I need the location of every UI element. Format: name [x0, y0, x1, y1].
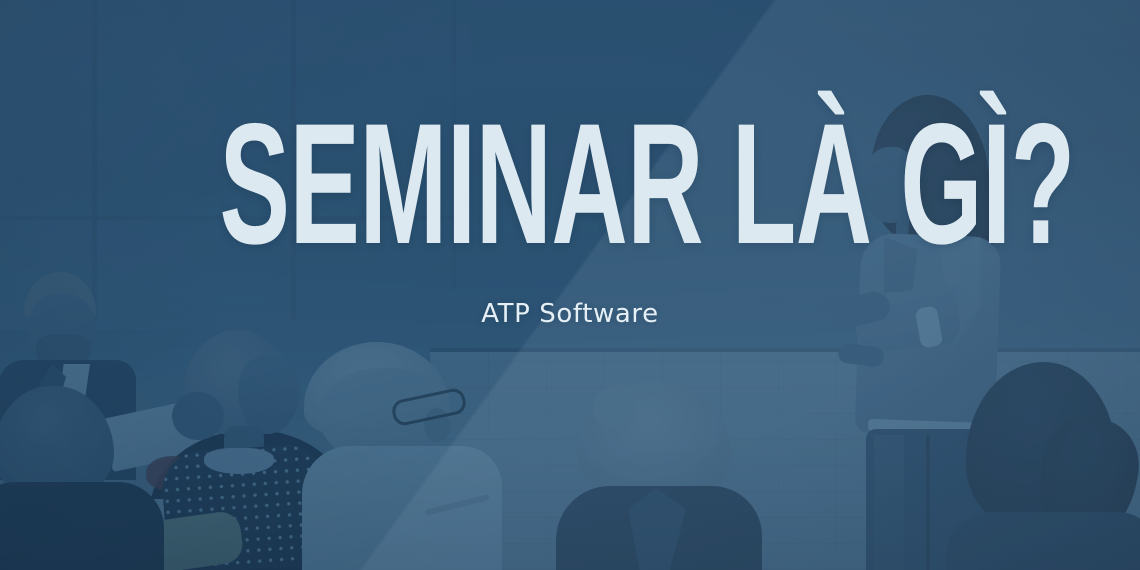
slide-subtitle: ATP Software — [0, 299, 1140, 329]
slide-title: SEMINAR LÀ GÌ? — [219, 98, 920, 270]
slide-canvas: SEMINAR LÀ GÌ? ATP Software — [0, 0, 1140, 570]
text-layer: SEMINAR LÀ GÌ? ATP Software — [0, 0, 1140, 570]
